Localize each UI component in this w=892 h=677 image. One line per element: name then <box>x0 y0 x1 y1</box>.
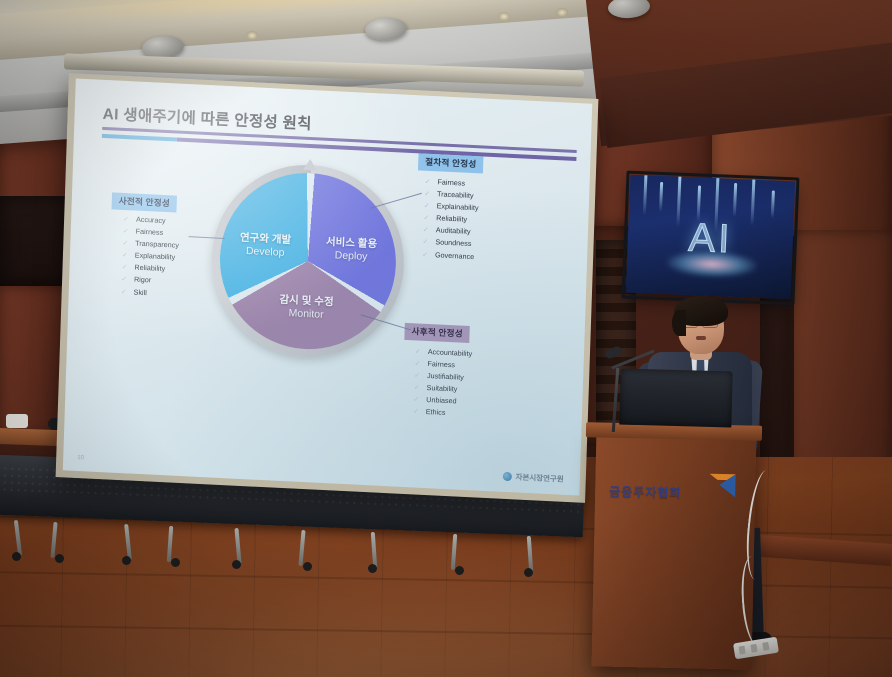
accent-bar-cyan <box>102 134 177 142</box>
speaker-hair-side <box>672 310 686 336</box>
cycle-label-develop: 연구와 개발 Develop <box>228 231 303 261</box>
slide-page-number: 10 <box>77 455 84 461</box>
slide-footer-logo: 자본시장연구원 <box>502 471 564 485</box>
slide-canvas: AI 생애주기에 따른 안정성 원칙 연구와 개발 Develop 서비스 활용… <box>63 79 592 496</box>
outlet-slot <box>750 644 757 653</box>
laptop <box>619 369 732 428</box>
callout-list-post: Accountability Fairness Justifiability S… <box>413 345 473 420</box>
outlet-slot <box>739 646 746 655</box>
projection-screen: AI 생애주기에 따른 안정성 원칙 연구와 개발 Develop 서비스 활용… <box>56 73 599 503</box>
side-table-paper <box>6 414 28 428</box>
cycle-label-deploy: 서비스 활용 Deploy <box>314 235 389 265</box>
list-item: Skill <box>121 285 178 300</box>
monitor-bezel <box>622 171 800 306</box>
ceiling-downlight-icon <box>556 8 568 17</box>
slide-footer-logo-text: 자본시장연구원 <box>515 471 564 484</box>
list-item: Ethics <box>413 406 471 421</box>
institute-logo-icon <box>502 472 511 481</box>
callout-heading-post: 사후적 안정성 <box>404 323 470 343</box>
chair-wheel <box>524 568 533 577</box>
speaker-mouth <box>696 336 706 340</box>
cycle-arrow-icon <box>303 159 317 171</box>
podium: 금융투자협회 <box>592 430 757 669</box>
ceiling-downlight-icon <box>498 12 510 21</box>
ceiling-downlight-icon <box>246 31 258 40</box>
chair-wheel <box>12 552 21 561</box>
association-logo-icon <box>707 471 738 500</box>
presentation-photo: AI 생애주기에 따른 안정성 원칙 연구와 개발 Develop 서비스 활용… <box>0 0 892 677</box>
chair-wheel <box>122 556 131 565</box>
chair-wheel <box>368 564 377 573</box>
podium-logo-text: 금융투자협회 <box>609 483 682 502</box>
outlet-slot <box>762 642 769 651</box>
chair-wheel <box>455 566 464 575</box>
callout-heading-procedural: 절차적 안정성 <box>418 153 484 173</box>
callout-heading-pre: 사전적 안정성 <box>111 192 177 212</box>
lifecycle-donut: 연구와 개발 Develop 서비스 활용 Deploy 감시 및 수정 Mon… <box>217 169 399 354</box>
callout-list-pre: Accuracy Fairness Transparency Explanabi… <box>121 213 180 300</box>
chair-wheel <box>303 562 312 571</box>
cycle-label-monitor: 감시 및 수정 Monitor <box>269 293 344 323</box>
chair-wheel <box>171 558 180 567</box>
list-item: Governance <box>422 248 477 263</box>
chair-wheel <box>55 554 64 563</box>
chair-wheel <box>232 560 241 569</box>
callout-list-procedural: Fairness Traceability Explainability Rel… <box>422 176 480 263</box>
